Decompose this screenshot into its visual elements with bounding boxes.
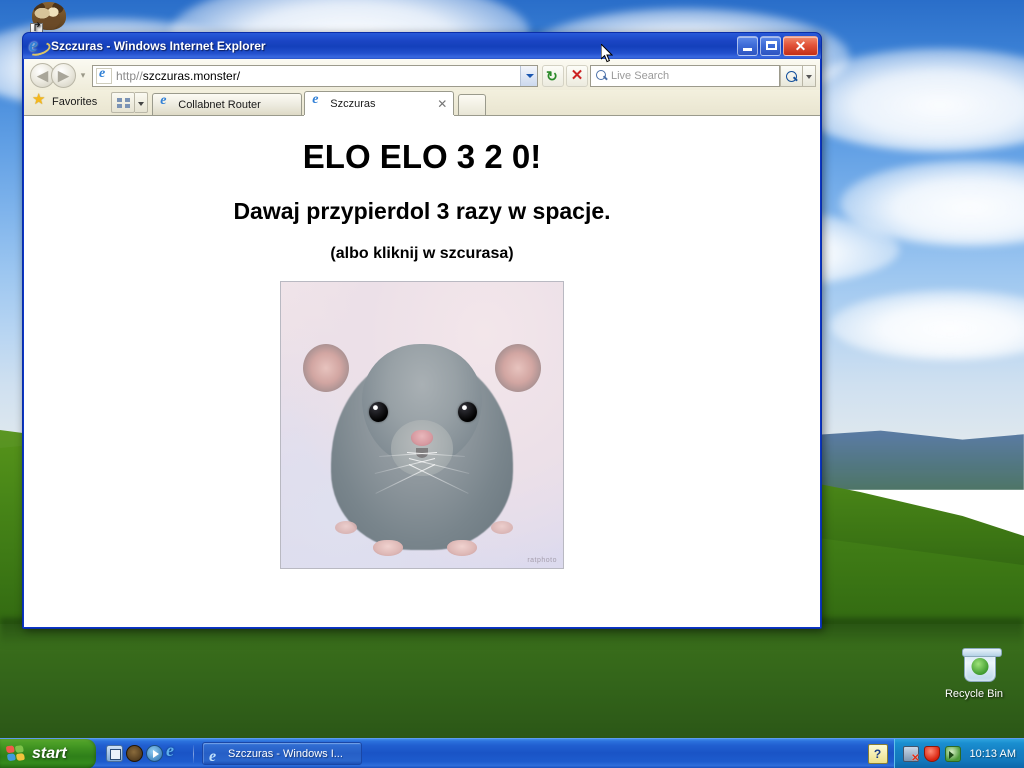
- address-protocol: http//: [116, 69, 143, 83]
- desktop-icon-label: Recycle Bin: [936, 688, 1012, 700]
- tab-label: Szczuras: [330, 98, 433, 110]
- help-icon[interactable]: [868, 744, 888, 764]
- address-bar[interactable]: http//szczuras.monster/: [92, 65, 538, 87]
- internet-explorer-icon: [311, 96, 326, 111]
- page-favicon-icon: [96, 68, 112, 84]
- tab-label: Collabnet Router: [178, 99, 295, 111]
- rat-foot-left: [335, 521, 357, 534]
- internet-explorer-icon[interactable]: [166, 745, 183, 762]
- browser-toolbars[interactable]: ◀ ▶ ▾ http//szczuras.monster/ ↻ ✕ Live S…: [23, 59, 821, 116]
- address-input[interactable]: http//szczuras.monster/: [116, 69, 240, 83]
- rat-paw-left: [373, 540, 403, 556]
- rat-nose: [411, 430, 433, 446]
- star-icon: [32, 94, 48, 110]
- rat-foot-right: [491, 521, 513, 534]
- tab-close-icon[interactable]: ✕: [437, 97, 447, 111]
- rat-eye-left: [369, 402, 388, 422]
- window-controls[interactable]: ✕: [737, 36, 818, 56]
- desktop-icon-recycle-bin[interactable]: Recycle Bin: [936, 650, 1012, 700]
- page-note: (albo kliknij w szcurasa): [24, 245, 820, 263]
- show-desktop-icon[interactable]: [106, 745, 123, 762]
- critter-icon[interactable]: [126, 745, 143, 762]
- rat-eye-right: [458, 402, 477, 422]
- chevron-down-icon[interactable]: ▾: [76, 70, 90, 81]
- start-button[interactable]: start: [0, 739, 96, 768]
- page-content[interactable]: ELO ELO 3 2 0! Dawaj przypierdol 3 razy …: [23, 116, 821, 628]
- stop-button[interactable]: ✕: [566, 65, 588, 87]
- favorites-label: Favorites: [52, 96, 97, 108]
- internet-explorer-icon: [29, 38, 46, 55]
- tab-szczuras[interactable]: Szczuras ✕: [304, 91, 454, 115]
- window-titlebar[interactable]: Szczuras - Windows Internet Explorer ✕: [23, 33, 821, 59]
- taskbar-clock[interactable]: 10:13 AM: [970, 748, 1016, 760]
- tab-collabnet-router[interactable]: Collabnet Router: [152, 93, 302, 115]
- security-shield-icon[interactable]: [924, 746, 940, 762]
- page-subheading: Dawaj przypierdol 3 razy w spacje.: [24, 198, 820, 225]
- navigation-row[interactable]: ◀ ▶ ▾ http//szczuras.monster/ ↻ ✕ Live S…: [24, 59, 820, 90]
- quick-launch-bar[interactable]: [96, 739, 189, 768]
- network-disconnected-icon[interactable]: [903, 746, 919, 762]
- rat-ear-right: [495, 344, 541, 392]
- search-placeholder: Live Search: [611, 70, 669, 82]
- window-title: Szczuras - Windows Internet Explorer: [51, 39, 737, 53]
- rat-paw-right: [447, 540, 477, 556]
- recycle-bin-icon: [956, 650, 992, 686]
- search-input[interactable]: Live Search: [590, 65, 780, 87]
- media-player-icon[interactable]: [146, 745, 163, 762]
- close-button[interactable]: ✕: [783, 36, 818, 56]
- search-go-button[interactable]: [780, 65, 802, 87]
- new-tab-button[interactable]: [458, 94, 486, 115]
- volume-icon[interactable]: [945, 746, 961, 762]
- taskbar-separator: [193, 745, 194, 763]
- search-provider-chevron-icon[interactable]: [802, 65, 816, 87]
- desktop[interactable]: Sh Recycle Bin Szczuras - Windows Intern…: [0, 0, 1024, 768]
- internet-explorer-window[interactable]: Szczuras - Windows Internet Explorer ✕ ◀…: [22, 32, 822, 629]
- quick-tabs-button[interactable]: [111, 92, 135, 113]
- forward-button[interactable]: ▶: [51, 63, 76, 88]
- quick-tabs-chevron-icon[interactable]: [135, 92, 148, 113]
- minimize-button[interactable]: [737, 36, 758, 56]
- taskbar[interactable]: start Szczuras - Windows I... 10:13 AM: [0, 738, 1024, 768]
- refresh-button[interactable]: ↻: [542, 65, 564, 87]
- windows-flag-icon: [6, 743, 27, 763]
- photo-watermark: ratphoto: [527, 557, 557, 564]
- rat-photo[interactable]: ratphoto: [280, 281, 564, 569]
- maximize-button[interactable]: [760, 36, 781, 56]
- tab-bar[interactable]: Favorites Collabnet Router Szczuras ✕: [24, 90, 820, 116]
- address-dropdown-chevron-icon[interactable]: [520, 66, 537, 86]
- page-heading: ELO ELO 3 2 0!: [24, 138, 820, 176]
- address-host: szczuras.monster/: [143, 69, 240, 83]
- rat-ear-left: [303, 344, 349, 392]
- start-label: start: [32, 745, 67, 763]
- system-tray[interactable]: 10:13 AM: [894, 739, 1024, 768]
- search-icon: [595, 69, 608, 82]
- internet-explorer-icon: [159, 97, 174, 112]
- taskbar-button-szczuras[interactable]: Szczuras - Windows I...: [202, 742, 362, 765]
- taskbar-button-label: Szczuras - Windows I...: [228, 748, 343, 760]
- favorites-button[interactable]: Favorites: [30, 91, 105, 113]
